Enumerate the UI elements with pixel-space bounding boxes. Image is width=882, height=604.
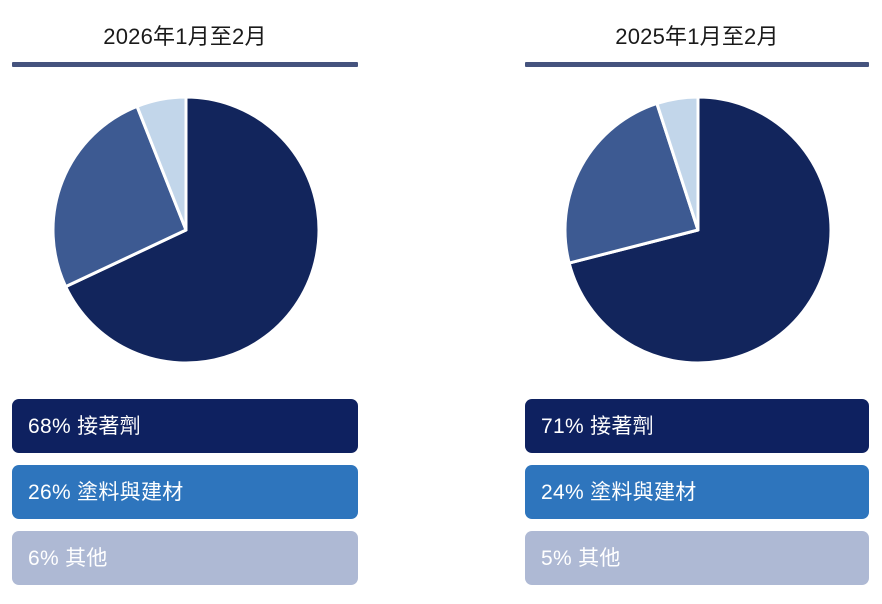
pie-chart-2026-svg (51, 95, 321, 365)
legend-item[interactable]: 24% 塗料與建材 (525, 465, 869, 519)
legend-item-label: 6% 其他 (28, 548, 108, 569)
legend-item-label: 71% 接著劑 (541, 416, 654, 437)
dual-pie-chart-figure: 2026年1月至2月 68% 接著劑 26% 塗料與建材 6% 其他 2025年… (0, 0, 882, 604)
legend-item[interactable]: 26% 塗料與建材 (12, 465, 358, 519)
chart-panel-2025: 2025年1月至2月 71% 接著劑 24% 塗料與建材 5% 其他 (441, 0, 882, 604)
pie-chart-2025-svg (563, 95, 833, 365)
pie-chart-2025 (563, 95, 833, 365)
title-underline-rule (525, 62, 869, 67)
pie-chart-2026 (51, 95, 321, 365)
title-underline-rule (12, 62, 358, 67)
legend-item-label: 68% 接著劑 (28, 416, 141, 437)
panel-title-2025: 2025年1月至2月 (525, 22, 869, 52)
legend-item[interactable]: 68% 接著劑 (12, 399, 358, 453)
panel-title-2026: 2026年1月至2月 (12, 22, 358, 52)
legend-item-label: 24% 塗料與建材 (541, 482, 697, 503)
legend-2026: 68% 接著劑 26% 塗料與建材 6% 其他 (12, 399, 358, 585)
legend-item[interactable]: 5% 其他 (525, 531, 869, 585)
legend-item-label: 26% 塗料與建材 (28, 482, 184, 503)
legend-item[interactable]: 6% 其他 (12, 531, 358, 585)
legend-item[interactable]: 71% 接著劑 (525, 399, 869, 453)
legend-2025: 71% 接著劑 24% 塗料與建材 5% 其他 (525, 399, 869, 585)
legend-item-label: 5% 其他 (541, 548, 621, 569)
chart-panel-2026: 2026年1月至2月 68% 接著劑 26% 塗料與建材 6% 其他 (0, 0, 441, 604)
